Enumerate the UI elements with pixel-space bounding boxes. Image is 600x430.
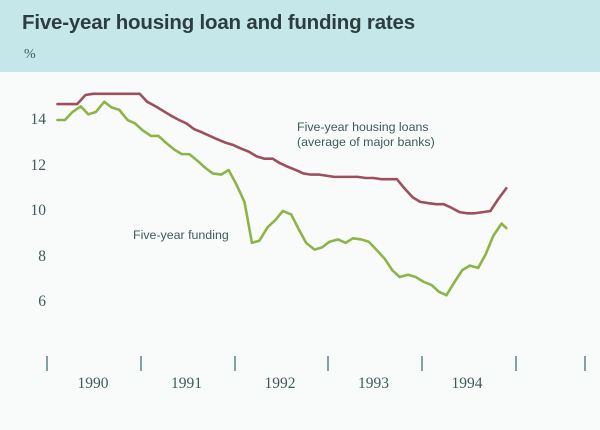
annotation-housing-loans-line1: Five-year housing loans	[297, 120, 435, 135]
x-axis-tick-label: 1991	[157, 375, 217, 393]
annotation-housing-loans: Five-year housing loans (average of majo…	[297, 120, 435, 149]
y-axis-tick-label: 10	[12, 202, 46, 220]
x-axis-tick-label: 1990	[63, 375, 123, 393]
x-axis-tick	[584, 356, 586, 371]
line-chart-canvas	[0, 0, 600, 430]
y-axis-tick-label: 8	[12, 248, 46, 266]
x-axis-tick	[234, 356, 236, 371]
x-axis-tick-label: 1993	[344, 375, 404, 393]
y-axis-tick-label: 12	[12, 157, 46, 175]
x-axis-tick	[421, 356, 423, 371]
series-line-housing-loans	[57, 94, 506, 213]
x-axis-tick	[515, 356, 517, 371]
x-axis-tick	[327, 356, 329, 371]
chart-figure: Five-year housing loan and funding rates…	[0, 0, 600, 430]
series-line-funding	[57, 102, 506, 295]
annotation-housing-loans-line2: (average of major banks)	[297, 135, 435, 150]
y-axis-tick-label: 14	[12, 111, 46, 129]
y-axis-tick-label: 6	[12, 293, 46, 311]
x-axis-tick-label: 1992	[250, 375, 310, 393]
x-axis-tick-label: 1994	[437, 375, 497, 393]
x-axis-tick	[46, 356, 48, 371]
x-axis-tick	[140, 356, 142, 371]
annotation-funding: Five-year funding	[133, 228, 229, 243]
